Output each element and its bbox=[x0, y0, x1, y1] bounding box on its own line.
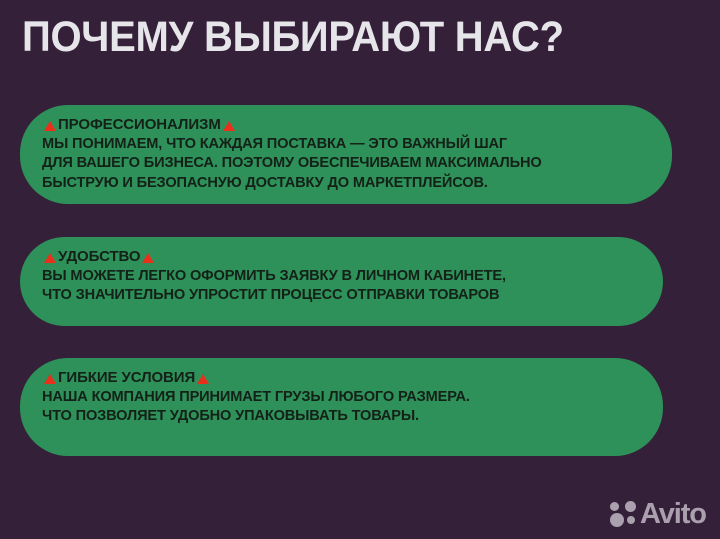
red-triangle-icon bbox=[44, 121, 56, 131]
benefit-card-body-line: ЧТО ЗНАЧИТЕЛЬНО УПРОСТИТ ПРОЦЕСС ОТПРАВК… bbox=[42, 286, 645, 305]
avito-dots-logo-icon bbox=[610, 501, 637, 528]
benefit-card: УДОБСТВО ВЫ МОЖЕТЕ ЛЕГКО ОФОРМИТЬ ЗАЯВКУ… bbox=[20, 237, 663, 326]
benefit-card-heading: ГИБКИЕ УСЛОВИЯ bbox=[42, 368, 645, 387]
avito-dot-bottom-right bbox=[627, 516, 635, 524]
avito-dot-top-left bbox=[610, 502, 619, 511]
benefit-card-body-line: БЫСТРУЮ И БЕЗОПАСНУЮ ДОСТАВКУ ДО МАРКЕТП… bbox=[42, 174, 654, 193]
red-triangle-icon bbox=[223, 121, 235, 131]
benefit-card-content: ГИБКИЕ УСЛОВИЯ НАША КОМПАНИЯ ПРИНИМАЕТ Г… bbox=[42, 368, 645, 427]
poster-canvas: ПОЧЕМУ ВЫБИРАЮТ НАС? ПРОФЕССИОНАЛИЗМ МЫ … bbox=[0, 0, 720, 539]
avito-wordmark: Avito bbox=[640, 500, 706, 529]
benefit-card: ГИБКИЕ УСЛОВИЯ НАША КОМПАНИЯ ПРИНИМАЕТ Г… bbox=[20, 358, 663, 456]
red-triangle-icon bbox=[142, 253, 154, 263]
benefit-card-heading: УДОБСТВО bbox=[42, 247, 645, 266]
benefit-card-content: ПРОФЕССИОНАЛИЗМ МЫ ПОНИМАЕМ, ЧТО КАЖДАЯ … bbox=[42, 115, 654, 193]
avito-dot-top-right bbox=[625, 501, 636, 512]
benefit-card-body: ВЫ МОЖЕТЕ ЛЕГКО ОФОРМИТЬ ЗАЯВКУ В ЛИЧНОМ… bbox=[42, 267, 645, 306]
benefit-card: ПРОФЕССИОНАЛИЗМ МЫ ПОНИМАЕМ, ЧТО КАЖДАЯ … bbox=[20, 105, 672, 204]
benefit-card-heading-text: ГИБКИЕ УСЛОВИЯ bbox=[58, 368, 195, 387]
red-triangle-icon bbox=[197, 374, 209, 384]
benefit-card-heading: ПРОФЕССИОНАЛИЗМ bbox=[42, 115, 654, 134]
page-title: ПОЧЕМУ ВЫБИРАЮТ НАС? bbox=[22, 13, 564, 61]
benefit-card-heading-text: ПРОФЕССИОНАЛИЗМ bbox=[58, 115, 221, 134]
benefit-card-body-line: ДЛЯ ВАШЕГО БИЗНЕСА. ПОЭТОМУ ОБЕСПЕЧИВАЕМ… bbox=[42, 154, 654, 173]
benefit-card-body-line: ВЫ МОЖЕТЕ ЛЕГКО ОФОРМИТЬ ЗАЯВКУ В ЛИЧНОМ… bbox=[42, 267, 645, 286]
benefit-card-body-line: МЫ ПОНИМАЕМ, ЧТО КАЖДАЯ ПОСТАВКА — ЭТО В… bbox=[42, 135, 654, 154]
red-triangle-icon bbox=[44, 253, 56, 263]
benefit-card-heading-text: УДОБСТВО bbox=[58, 247, 140, 266]
avito-dot-bottom-left bbox=[610, 513, 624, 527]
benefit-card-content: УДОБСТВО ВЫ МОЖЕТЕ ЛЕГКО ОФОРМИТЬ ЗАЯВКУ… bbox=[42, 247, 645, 306]
benefit-card-body: МЫ ПОНИМАЕМ, ЧТО КАЖДАЯ ПОСТАВКА — ЭТО В… bbox=[42, 135, 654, 193]
avito-watermark: Avito bbox=[610, 500, 706, 529]
red-triangle-icon bbox=[44, 374, 56, 384]
benefit-card-body: НАША КОМПАНИЯ ПРИНИМАЕТ ГРУЗЫ ЛЮБОГО РАЗ… bbox=[42, 388, 645, 427]
benefit-card-body-line: ЧТО ПОЗВОЛЯЕТ УДОБНО УПАКОВЫВАТЬ ТОВАРЫ. bbox=[42, 407, 645, 426]
benefit-card-body-line: НАША КОМПАНИЯ ПРИНИМАЕТ ГРУЗЫ ЛЮБОГО РАЗ… bbox=[42, 388, 645, 407]
